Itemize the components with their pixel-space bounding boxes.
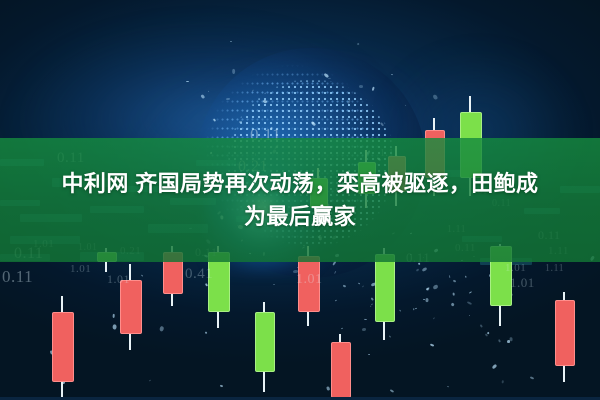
background-price-number: 1.01 <box>296 272 323 288</box>
headline-line-2: 为最后赢家 <box>244 203 356 231</box>
background-price-number: 1.01 <box>107 272 130 287</box>
background-price-number: 1.01 <box>510 275 535 291</box>
background-price-number: 1.11 <box>545 263 564 274</box>
headline-line-1: 中利网 齐国局势再次动荡，栾高被驱逐，田鲍成 <box>62 170 539 198</box>
news-thumbnail-image: 0.111.010.110.111.011.010.211.010.110.21… <box>0 0 600 400</box>
background-price-number: 0.11 <box>2 267 33 287</box>
background-price-number: 1.01 <box>505 262 526 274</box>
background-price-number: 0.41 <box>185 266 213 283</box>
background-price-number: 1.01 <box>70 263 91 275</box>
headline-block: 中利网 齐国局势再次动荡，栾高被驱逐，田鲍成 为最后赢家 <box>0 138 600 262</box>
